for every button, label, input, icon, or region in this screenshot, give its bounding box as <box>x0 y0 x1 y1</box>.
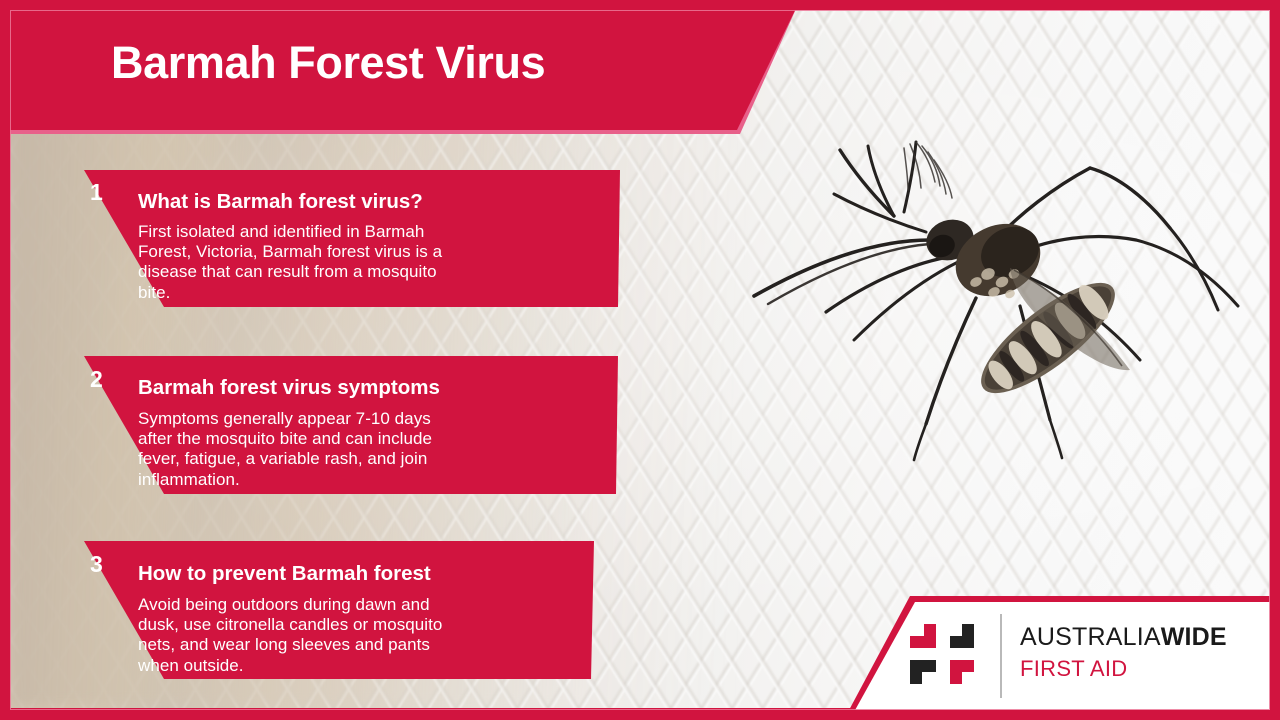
block-3-body-line: dusk, use citronella candles or mosquito <box>138 615 442 635</box>
logo-brand-name: AUSTRALIAWIDE <box>1020 624 1227 650</box>
block-2-body-line: after the mosquito bite and can include <box>138 429 432 449</box>
logo-panel: AUSTRALIAWIDE FIRST AID <box>848 596 1272 712</box>
logo-divider <box>1000 614 1002 698</box>
logo-wordmark: AUSTRALIAWIDE FIRST AID <box>1020 624 1227 682</box>
block-2-number: 2 <box>90 368 103 391</box>
australia-wide-cross-logo-icon <box>910 620 988 692</box>
infographic-canvas: Barmah Forest Virus 1 What is Barmah for… <box>0 0 1280 720</box>
block-2-heading: Barmah forest virus symptoms <box>138 376 440 400</box>
block-1-body-line: bite. <box>138 283 442 303</box>
block-3-heading: How to prevent Barmah forest <box>138 562 431 586</box>
block-2-body-line: fever, fatigue, a variable rash, and joi… <box>138 449 432 469</box>
block-1-number: 1 <box>90 181 103 204</box>
logo-brand-part2: WIDE <box>1161 623 1227 651</box>
block-2-body-line: Symptoms generally appear 7-10 days <box>138 409 432 429</box>
block-3-body-line: Avoid being outdoors during dawn and <box>138 595 442 615</box>
block-1-body-line: Forest, Victoria, Barmah forest virus is… <box>138 242 442 262</box>
block-1-body: First isolated and identified in Barmah … <box>138 222 442 303</box>
block-3-body-line: nets, and wear long sleeves and pants <box>138 635 442 655</box>
block-2-body: Symptoms generally appear 7-10 days afte… <box>138 409 432 490</box>
block-3-number: 3 <box>90 553 103 576</box>
content-block-2: 2 Barmah forest virus symptoms Symptoms … <box>68 356 618 494</box>
block-3-body-line: when outside. <box>138 656 442 676</box>
content-block-3: 3 How to prevent Barmah forest Avoid bei… <box>68 541 594 679</box>
block-1-heading: What is Barmah forest virus? <box>138 190 423 214</box>
block-3-body: Avoid being outdoors during dawn and dus… <box>138 595 442 676</box>
block-2-body-line: inflammation. <box>138 470 432 490</box>
logo-tagline: FIRST AID <box>1020 656 1227 682</box>
block-1-body-line: First isolated and identified in Barmah <box>138 222 442 242</box>
block-1-body-line: disease that can result from a mosquito <box>138 262 442 282</box>
logo-brand-part1: AUSTRALIA <box>1020 623 1161 651</box>
content-block-1: 1 What is Barmah forest virus? First iso… <box>68 170 620 307</box>
